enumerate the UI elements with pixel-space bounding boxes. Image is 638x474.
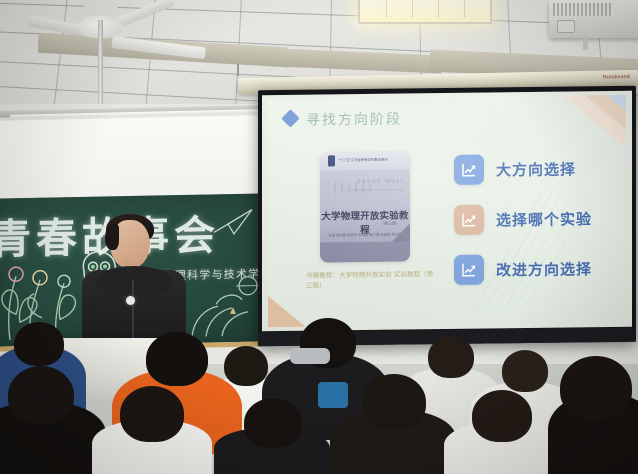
chart-up-icon [454,155,484,185]
book-authors: 主编 黄志精 陈爱华 郝旭超 董小静 赵健勇 周志刚 [320,231,410,237]
book-english-title: DAXUE WULI [357,179,404,186]
presenter-badge [126,296,135,305]
classroom-scene: Rondinand 青春故事会 —— 物理科学与技术学院 [0,0,638,474]
audience-head [146,332,208,386]
audience-head [560,356,632,420]
audience-head [472,390,532,442]
projector-lens [557,20,575,33]
audience-head [120,386,184,442]
book-caption: 书籍推荐：大学物理开放实验 实验教程（第三版） [306,269,436,291]
chalk-paper-plane-icon [212,206,254,237]
book-english-subtitle: KAIFANG SHIYAN JIAOCHENG [351,188,404,193]
audience-head [244,398,302,448]
book-badge-text: “十三五”江苏省高等学校重点教材 [338,157,388,163]
slide-title: 寻找方向阶段 [306,109,402,130]
presenter-hair-side [105,224,119,250]
roller-brand-label: Rondinand [603,74,630,81]
audience-head [428,336,474,378]
book-edition: （第三版） [380,221,400,227]
projector-vents [553,3,613,16]
slide-list-item-3: 改进方向选择 [454,253,592,285]
slide-list-item-1: 大方向选择 [454,153,576,184]
audience-head [224,346,268,386]
chart-up-icon [454,255,484,285]
slide-list-label: 改进方向选择 [496,258,592,280]
jacket-graphic [318,382,348,408]
audience-mask [290,348,330,364]
projector-icon [549,0,638,38]
diamond-bullet-icon [281,109,299,127]
chart-up-icon [454,205,484,235]
projector-mount [583,36,588,50]
audience [0,324,638,474]
projection-screen: 寻找方向阶段 “十三五”江苏省高等学校重点教材 DAXUE WULI KAIFA… [258,86,636,347]
presenter-hood [96,266,172,296]
ceiling-light-icon [358,0,492,24]
screen-hook [237,64,239,76]
slide-list-item-2: 选择哪个实验 [454,203,592,235]
book-cover-image: “十三五”江苏省高等学校重点教材 DAXUE WULI KAIFANG SHIY… [320,151,410,262]
audience-head [8,366,74,424]
audience-head [14,322,64,366]
slide-list-label: 大方向选择 [496,158,576,180]
audience-head [362,374,426,430]
book-footer [320,241,410,262]
book-badge-icon [328,155,335,166]
presentation-slide: 寻找方向阶段 “十三五”江苏省高等学校重点教材 DAXUE WULI KAIFA… [268,95,626,327]
slide-decoration-bottom-left [268,256,348,327]
screen-surface: 寻找方向阶段 “十三五”江苏省高等学校重点教材 DAXUE WULI KAIFA… [262,91,632,332]
audience-head [502,350,548,392]
ceiling-beam [281,49,441,74]
slide-list-label: 选择哪个实验 [496,208,592,230]
